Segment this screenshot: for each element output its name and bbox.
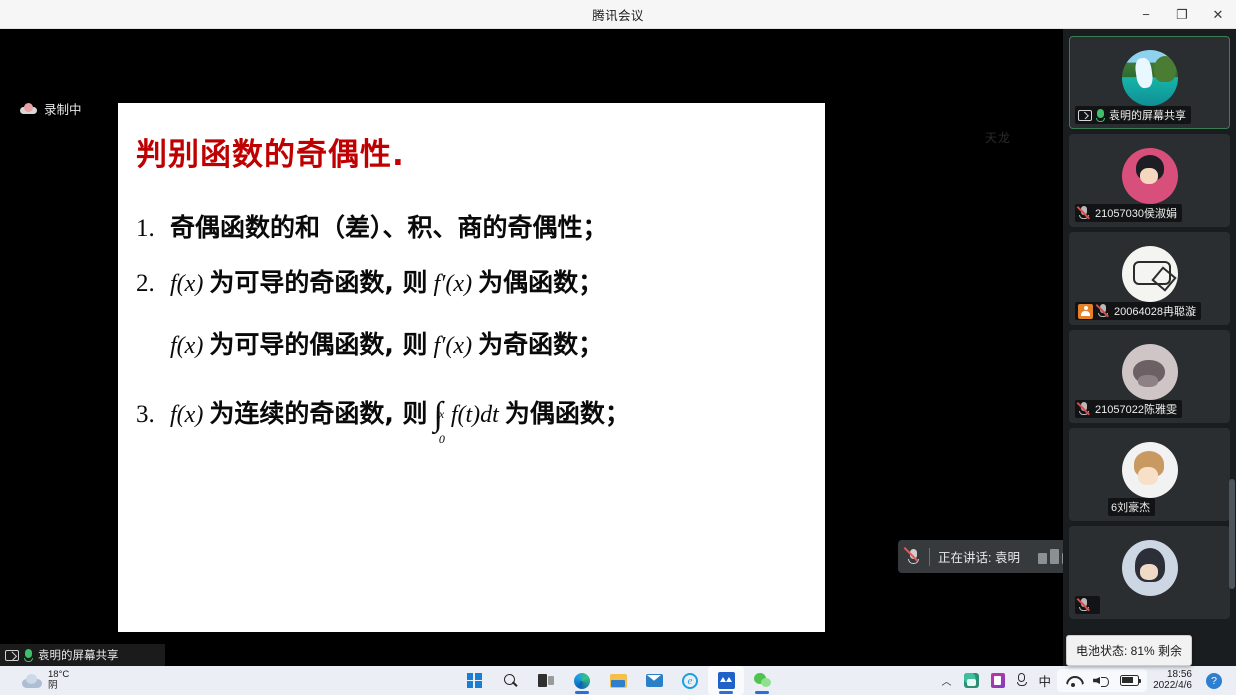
audio-wave-icon (1038, 549, 1063, 564)
mic-on-icon (1096, 109, 1105, 122)
participant-tile-0[interactable]: 袁明的屏幕共享 (1069, 36, 1230, 129)
clock-date: 2022/4/6 (1153, 681, 1192, 692)
weather-condition: 阴 (48, 681, 69, 691)
slide-item-2b: f(x) 为可导的偶函数, 则 f′(x) 为奇函数； (136, 325, 603, 361)
cloud-record-icon (20, 103, 37, 114)
search-icon (503, 673, 518, 688)
close-button[interactable]: ✕ (1200, 0, 1236, 29)
watermark: 天龙 (985, 129, 1011, 146)
ie-icon (682, 673, 698, 689)
participant-label-2: 20064028冉聪漩 (1075, 302, 1201, 320)
wechat-button[interactable] (744, 666, 780, 695)
task-view-icon (538, 674, 554, 687)
screen-share-badge: 袁明的屏幕共享 (0, 644, 165, 666)
slide-item-2b-text-a: 为可导的偶函数, 则 (209, 325, 427, 361)
notification-button[interactable]: ? (1200, 666, 1228, 695)
screen-share-icon (1078, 110, 1092, 121)
slide-item-3-fx: f(x) (170, 402, 203, 429)
edge-button[interactable] (564, 666, 600, 695)
microphone-icon (1017, 673, 1027, 688)
participant-tile-2[interactable]: 20064028冉聪漩 (1069, 232, 1230, 325)
meeting-body: 录制中 天龙 判别函数的奇偶性. 1. 奇偶函数的和（差）、积、商的奇偶性； 2… (0, 29, 1236, 666)
slide-title: 判别函数的奇偶性. (136, 129, 405, 174)
mic-muted-icon (1078, 598, 1091, 612)
integral-limits: x 0 (439, 408, 445, 433)
volume-button[interactable] (1087, 666, 1114, 695)
slide-item-2b-fpx: f′(x) (434, 333, 473, 360)
cloud-weather-icon (22, 674, 42, 688)
slide-item-3-text-a: 为连续的奇函数, 则 (209, 394, 427, 430)
folder-icon (610, 674, 627, 688)
mail-icon (646, 674, 663, 687)
mic-muted-icon (1097, 304, 1110, 318)
battery-icon (1120, 675, 1139, 686)
mic-muted-icon (906, 548, 921, 565)
slide-item-2-text-a: 为可导的奇函数, 则 (209, 263, 427, 299)
clock-time: 18:56 (1153, 670, 1192, 681)
weather-temperature: 18°C (48, 670, 69, 680)
slide-item-2-number: 2. (136, 270, 170, 298)
battery-tooltip-text: 电池状态: 81% 剩余 (1076, 642, 1182, 659)
participant-name-4: 6刘豪杰 (1111, 499, 1150, 515)
slide-item-2b-text-b: 为奇函数； (478, 325, 603, 361)
slide-item-2: 2. f(x) 为可导的奇函数, 则 f′(x) 为偶函数； (136, 263, 603, 299)
tencent-meeting-window: 腾讯会议 − ❐ ✕ 录制中 天龙 判别函数的奇偶性. 1. 奇偶函数的和（差）… (0, 0, 1236, 666)
participant-tile-5[interactable] (1069, 526, 1230, 619)
volume-icon (1093, 674, 1108, 687)
share-badge-label: 袁明的屏幕共享 (38, 647, 119, 663)
shared-screen-stage: 录制中 天龙 判别函数的奇偶性. 1. 奇偶函数的和（差）、积、商的奇偶性； 2… (0, 29, 1063, 666)
tray-app-purple-button[interactable] (985, 666, 1011, 695)
taskbar-app-group (456, 666, 780, 695)
slide-item-3: 3. f(x) 为连续的奇函数, 则 ∫ x 0 f(t)dt 为偶函数； (136, 393, 630, 437)
wifi-button[interactable] (1059, 666, 1087, 695)
wechat-icon (754, 673, 771, 688)
notification-icon: ? (1206, 673, 1222, 689)
window-title: 腾讯会议 (592, 5, 644, 24)
quick-settings-button[interactable] (1057, 669, 1147, 692)
maximize-button[interactable]: ❐ (1164, 0, 1200, 29)
battery-button[interactable] (1114, 666, 1145, 695)
slide-item-1-text: 奇偶函数的和（差）、积、商的奇偶性； (170, 208, 608, 244)
tencent-meeting-button[interactable] (708, 666, 744, 695)
participant-label-5 (1075, 596, 1100, 614)
title-bar: 腾讯会议 − ❐ ✕ (0, 0, 1236, 29)
participant-name-0: 袁明的屏幕共享 (1109, 107, 1186, 123)
avatar (1122, 246, 1178, 302)
avatar (1122, 442, 1178, 498)
slide-item-3-text-b: 为偶函数； (505, 394, 630, 430)
file-explorer-button[interactable] (600, 666, 636, 695)
host-badge-icon (1078, 304, 1093, 319)
participant-tile-3[interactable]: 21057022陈雅雯 (1069, 330, 1230, 423)
mic-muted-icon (1078, 402, 1091, 416)
avatar (1122, 344, 1178, 400)
ime-indicator[interactable]: 中 (1033, 666, 1058, 695)
participant-label-0: 袁明的屏幕共享 (1075, 106, 1191, 124)
edge-icon (574, 673, 590, 689)
recording-indicator: 录制中 (20, 99, 82, 118)
meeting-icon (718, 672, 735, 689)
participant-name-3: 21057022陈雅雯 (1095, 401, 1177, 417)
participant-rail-scrollbar[interactable] (1229, 479, 1235, 589)
integrand: f(t)dt (451, 402, 499, 429)
participant-name-1: 21057030侯淑娟 (1095, 205, 1177, 221)
avatar (1122, 50, 1178, 106)
avatar (1122, 540, 1178, 596)
participant-label-1: 21057030侯淑娟 (1075, 204, 1182, 222)
participant-tile-1[interactable]: 21057030侯淑娟 (1069, 134, 1230, 227)
slide-item-3-number: 3. (136, 401, 170, 429)
participant-label-4: 6刘豪杰 (1108, 498, 1155, 516)
participant-name-2: 20064028冉聪漩 (1114, 303, 1196, 319)
slide-item-2-text-b: 为偶函数； (478, 263, 603, 299)
screen-share-icon (5, 650, 19, 661)
windows-taskbar: 18°C 阴 ︿ (0, 666, 1236, 695)
minimize-button[interactable]: − (1128, 0, 1164, 29)
speaking-toast: 正在讲话: 袁明 ↰ (898, 540, 1063, 573)
chevron-up-icon: ︿ (942, 673, 952, 688)
window-controls: − ❐ ✕ (1128, 0, 1236, 29)
slide-item-2-fpx: f′(x) (434, 271, 473, 298)
recording-label: 录制中 (44, 99, 82, 118)
tray-app-purple-icon (991, 673, 1005, 688)
slide-item-1: 1. 奇偶函数的和（差）、积、商的奇偶性； (136, 208, 608, 244)
tray-microphone-button[interactable] (1011, 666, 1033, 695)
toast-divider (929, 548, 930, 566)
ime-label: 中 (1039, 671, 1052, 690)
mic-muted-icon (1078, 206, 1091, 220)
slide-item-1-number: 1. (136, 215, 170, 243)
taskbar-clock[interactable]: 18:56 2022/4/6 (1147, 670, 1200, 691)
wifi-icon (1065, 674, 1081, 687)
tray-app-green-button[interactable] (958, 666, 985, 695)
tray-app-green-icon (964, 673, 979, 688)
participant-tile-4[interactable]: 6刘豪杰 (1069, 428, 1230, 521)
participant-rail[interactable]: 袁明的屏幕共享 21057030侯淑娟 20064028冉聪漩 (1063, 29, 1236, 666)
tray-overflow-button[interactable]: ︿ (936, 666, 958, 695)
mic-on-icon (24, 649, 33, 662)
avatar (1122, 148, 1178, 204)
battery-status-tooltip: 电池状态: 81% 剩余 (1066, 635, 1192, 666)
slide-item-2b-fx: f(x) (170, 333, 203, 360)
speaking-label: 正在讲话: 袁明 (938, 547, 1020, 566)
start-button[interactable] (456, 666, 492, 695)
weather-widget[interactable]: 18°C 阴 (22, 670, 69, 690)
integral-lower: 0 (439, 433, 445, 446)
task-view-button[interactable] (528, 666, 564, 695)
ie-button[interactable] (672, 666, 708, 695)
search-button[interactable] (492, 666, 528, 695)
windows-logo-icon (467, 673, 482, 688)
integral-upper: x (439, 408, 445, 421)
system-tray: ︿ 中 18:56 2022/4/6 (936, 666, 1228, 695)
mail-button[interactable] (636, 666, 672, 695)
participant-label-3: 21057022陈雅雯 (1075, 400, 1182, 418)
presentation-slide: 判别函数的奇偶性. 1. 奇偶函数的和（差）、积、商的奇偶性； 2. f(x) … (118, 103, 825, 632)
slide-item-2-fx: f(x) (170, 271, 203, 298)
